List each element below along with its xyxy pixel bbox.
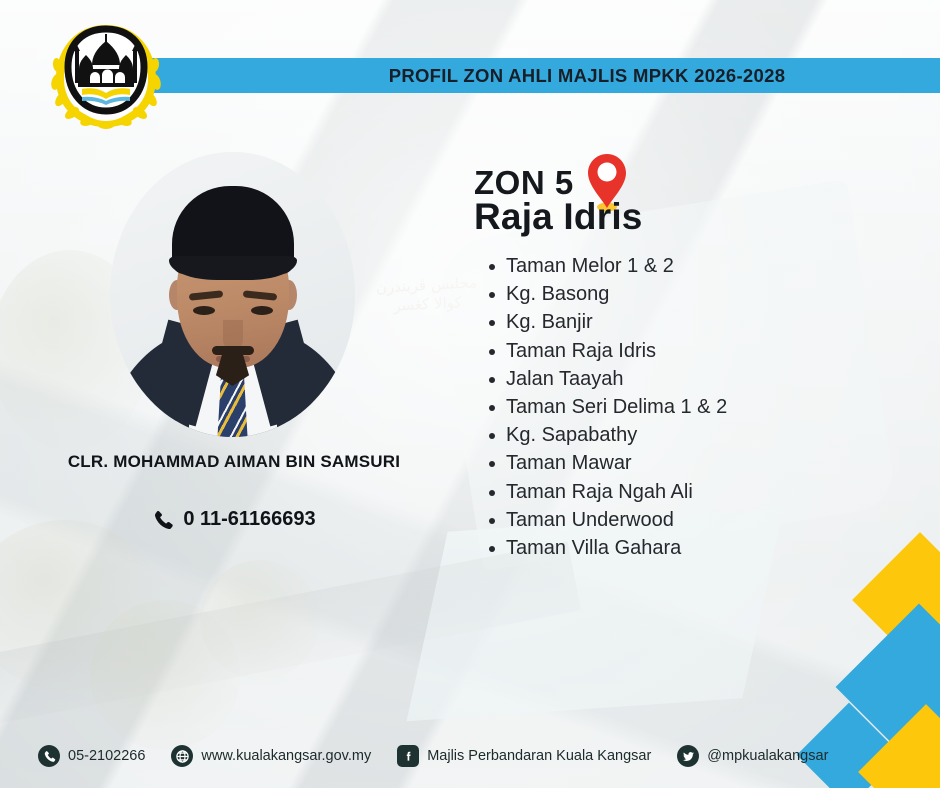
phone-icon <box>38 745 60 767</box>
footer-website-text: www.kualakangsar.gov.my <box>201 748 371 764</box>
mpkk-crest-logo: MAJLIS PERBANDARAN KUALA KANGSAR <box>48 17 164 133</box>
councillor-phone: 0 11-61166693 <box>60 508 408 531</box>
footer-facebook[interactable]: Majlis Perbandaran Kuala Kangsar <box>397 745 651 767</box>
phone-handset-icon <box>152 509 174 531</box>
footer-phone[interactable]: 05-2102266 <box>38 745 145 767</box>
facebook-icon <box>397 745 419 767</box>
councillor-photo <box>110 152 355 437</box>
list-item: Kg. Basong <box>506 280 727 308</box>
list-item: Taman Villa Gahara <box>506 534 727 562</box>
area-list: Taman Melor 1 & 2 Kg. Basong Kg. Banjir … <box>478 252 727 562</box>
twitter-icon <box>677 745 699 767</box>
list-item: Kg. Banjir <box>506 308 727 336</box>
footer-phone-text: 05-2102266 <box>68 748 145 764</box>
footer-website[interactable]: www.kualakangsar.gov.my <box>171 745 371 767</box>
councillor-name: CLR. MOHAMMAD AIMAN BIN SAMSURI <box>60 452 408 473</box>
list-item: Taman Mawar <box>506 449 727 477</box>
list-item: Kg. Sapabathy <box>506 421 727 449</box>
footer-contact-bar: 05-2102266 www.kualakangsar.gov.my M <box>0 724 940 788</box>
list-item: Taman Melor 1 & 2 <box>506 252 727 280</box>
list-item: Taman Raja Ngah Ali <box>506 478 727 506</box>
list-item: Taman Seri Delima 1 & 2 <box>506 393 727 421</box>
list-item: Jalan Taayah <box>506 365 727 393</box>
list-item: Taman Raja Idris <box>506 337 727 365</box>
globe-icon <box>171 745 193 767</box>
councillor-phone-number: 0 11-61166693 <box>183 508 315 531</box>
zone-name: Raja Idris <box>474 196 643 238</box>
footer-twitter-text: @mpkualakangsar <box>707 748 828 764</box>
footer-twitter[interactable]: @mpkualakangsar <box>677 745 828 767</box>
list-item: Taman Underwood <box>506 506 727 534</box>
poster-canvas: مجليس ڤربندرنكوالا كڠسر PROFIL ZON AHLI … <box>0 0 940 788</box>
page-title: PROFIL ZON AHLI MAJLIS MPKK 2026-2028 <box>148 58 940 93</box>
footer-facebook-text: Majlis Perbandaran Kuala Kangsar <box>427 748 651 764</box>
